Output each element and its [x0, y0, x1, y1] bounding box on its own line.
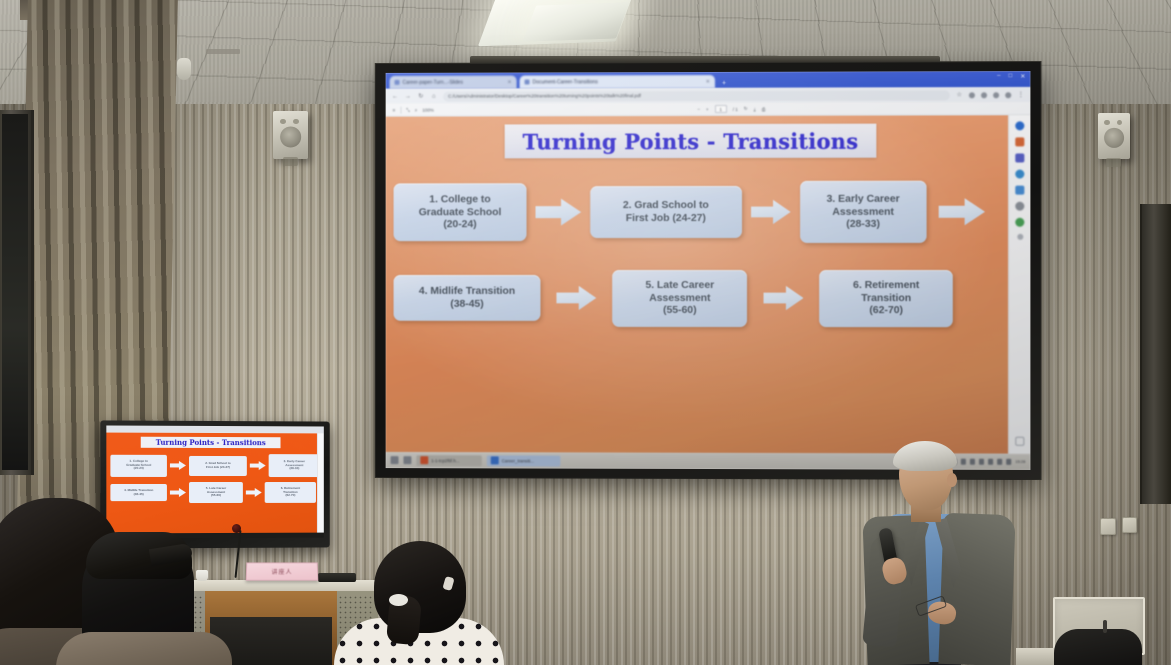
speaker-mount-left — [283, 157, 298, 166]
favicon-icon — [395, 80, 400, 85]
confidence-monitor: Turning Points - Transitions 1. College … — [100, 420, 329, 548]
confidence-monitor-screen: Turning Points - Transitions 1. College … — [106, 426, 323, 539]
window-glass-left — [2, 114, 28, 470]
new-tab-button[interactable]: + — [718, 80, 730, 88]
window-frame-right — [1140, 204, 1171, 504]
flow-node-2: 2. Grad School to First Job (24-27) — [590, 186, 741, 238]
monitor-flow-node-6: 6. Retirement Transition (62-70) — [265, 482, 316, 503]
wall-outlet-icon[interactable] — [1122, 517, 1137, 533]
wall-speaker-left-icon — [273, 111, 308, 159]
extension-icon-3[interactable] — [993, 92, 999, 98]
monitor-flow-node-3: 3. Early Career Assessment (28-33) — [269, 454, 317, 477]
browser-tab-2[interactable]: Document-Career-Transitions ✕ — [520, 75, 715, 89]
toolbar-separator — [400, 106, 401, 113]
pdf-sidebar-toggle-icon[interactable]: ≡ — [393, 107, 396, 112]
flow-node-5: 5. Late Career Assessment (55-60) — [612, 269, 747, 326]
mon-n2-l2: First Job (24-27) — [206, 464, 230, 468]
flow-arrow-4-icon — [556, 284, 596, 311]
presenter-hair — [893, 441, 957, 471]
monitor-flow-row-1: 1. College to Graduate School (20-24) 2.… — [110, 454, 317, 477]
monitor-flow-arrow-1-icon — [170, 460, 186, 470]
search-icon[interactable] — [403, 456, 411, 464]
ceiling-motion-sensor-icon — [177, 58, 191, 80]
projection-screen: Career-paper-Turn...-Slides ✕ Document-C… — [386, 71, 1031, 470]
extension-icon-1[interactable] — [969, 92, 975, 98]
flow-node-2-line2: First Job (24-27) — [626, 212, 706, 224]
address-input[interactable]: C:/Users/Administrator/Desktop/Career%20… — [443, 90, 950, 101]
laptop-on-podium — [318, 573, 356, 582]
flow-node-1-line2: Graduate School — [419, 206, 502, 218]
flow-arrow-2-icon — [751, 198, 791, 225]
maximize-icon[interactable]: □ — [1009, 73, 1014, 80]
reload-icon[interactable]: ↻ — [417, 93, 424, 100]
address-value: C:/Users/Administrator/Desktop/Career%20… — [448, 93, 641, 98]
hair-scrunchie-icon — [389, 594, 408, 606]
comment-tool-icon[interactable] — [1015, 170, 1024, 179]
taskbar-item-1-label: 1-1-tcp2f6f.h... — [431, 458, 459, 463]
paper-cup — [196, 570, 208, 581]
flow-node-4-line1: 4. Midlife Transition — [419, 285, 515, 297]
pdf-zoom-in-icon[interactable]: + — [706, 106, 709, 111]
nameplate-text: 讲座人 — [271, 567, 292, 576]
flow-node-2-line1: 2. Grad School to — [623, 199, 709, 211]
window-controls: – □ ✕ — [997, 73, 1026, 80]
favicon-icon — [525, 79, 530, 84]
monitor-flow-arrow-2-icon — [250, 461, 266, 471]
mon-n5-l3: (55-60) — [211, 493, 221, 497]
slide-title: Turning Points - Transitions — [523, 128, 859, 154]
browser-address-bar: ← → ↻ ⌂ C:/Users/Administrator/Desktop/C… — [386, 87, 1031, 104]
monitor-flow-node-2: 2. Grad School to First Job (24-27) — [189, 455, 247, 475]
export-tool-icon[interactable] — [1015, 218, 1024, 227]
settings-tool-icon[interactable] — [1017, 234, 1023, 240]
black-bag — [1054, 629, 1142, 665]
pdf-zoom-level[interactable]: 100% — [422, 107, 434, 112]
monitor-flow-arrow-4-icon — [170, 488, 186, 498]
home-icon[interactable]: ⌂ — [430, 93, 437, 100]
flow-arrow-3-icon — [939, 197, 985, 227]
pdf-page-total: / 1 — [733, 106, 738, 111]
windows-start-icon[interactable] — [391, 456, 399, 464]
projection-screen-bezel: Career-paper-Turn...-Slides ✕ Document-C… — [376, 62, 1041, 479]
flow-node-4: 4. Midlife Transition (38-45) — [394, 275, 541, 321]
flow-node-6-line1: 6. Retirement — [853, 279, 919, 291]
app-icon-2 — [491, 456, 499, 464]
speaker-cone — [1104, 128, 1124, 148]
taskbar-item-2[interactable]: Career_transiti... — [487, 455, 561, 466]
taskbar-item-2-label: Career_transiti... — [502, 458, 534, 463]
slide-title-band: Turning Points - Transitions — [505, 124, 877, 159]
pdf-rotate-icon[interactable]: ↻ — [744, 106, 748, 112]
mon-n4-l2: (38-45) — [134, 492, 144, 496]
gooseneck-microphone-icon — [232, 524, 241, 533]
speaker-cone — [280, 126, 302, 147]
pdf-print-icon[interactable]: ⎙ — [762, 106, 766, 111]
mon-n1-l3: (20-24) — [134, 466, 144, 470]
ceiling-light-inner — [523, 2, 630, 41]
flow-node-3-line3: (28-33) — [846, 218, 880, 230]
wall-speaker-right-icon — [1098, 113, 1130, 159]
slide-canvas: Turning Points - Transitions 1. College … — [386, 115, 1009, 453]
stamp-tool-icon[interactable] — [1015, 137, 1024, 146]
ceiling-vent — [206, 49, 240, 54]
monitor-flow-node-4: 4. Midlife Transition (38-45) — [110, 484, 167, 501]
browser-tab-strip: Career-paper-Turn...-Slides ✕ Document-C… — [386, 71, 1031, 89]
browser-menu-icon[interactable]: ⋮ — [1017, 91, 1024, 98]
podium-nameplate: 讲座人 — [246, 562, 319, 580]
presenter-ear — [947, 473, 957, 487]
highlight-tool-icon[interactable] — [1015, 121, 1024, 130]
flow-node-3: 3. Early Career Assessment (28-33) — [800, 181, 927, 243]
pdf-page-controls: − + 1 / 1 ↻ ⤓ ⎙ — [697, 105, 765, 113]
flow-node-6-line3: (62-70) — [869, 304, 903, 316]
monitor-title-band: Turning Points - Transitions — [141, 437, 281, 448]
flow-node-6-line2: Transition — [861, 292, 911, 304]
pdf-download-icon[interactable]: ⤓ — [754, 106, 756, 111]
back-icon[interactable]: ← — [392, 93, 399, 100]
speaker-mount-right — [1106, 158, 1121, 167]
share-tool-icon[interactable] — [1015, 186, 1024, 195]
extension-icon-2[interactable] — [981, 92, 987, 98]
bookmark-star-icon[interactable]: ☆ — [956, 91, 963, 98]
monitor-flow-arrow-5-icon — [246, 487, 262, 497]
pdf-search-icon[interactable]: ⌕ — [415, 107, 418, 112]
monitor-slide-title: Turning Points - Transitions — [156, 438, 266, 447]
speaker-tweeter — [280, 119, 286, 124]
flow-node-5-line2: Assessment — [649, 292, 710, 304]
browser-tab-1-label: Career-paper-Turn...-Slides — [402, 79, 462, 85]
close-window-icon[interactable]: ✕ — [1020, 73, 1026, 80]
flow-row-1: 1. College to Graduate School (20-24) 2.… — [394, 178, 985, 246]
monitor-flow-node-5: 5. Late Career Assessment (55-60) — [189, 482, 243, 503]
speaker-tweeter — [1104, 120, 1109, 125]
lecture-hall-scene: Career-paper-Turn...-Slides ✕ Document-C… — [0, 0, 1171, 665]
signature-tool-icon[interactable] — [1015, 153, 1024, 162]
pdf-page-input[interactable]: 1 — [715, 105, 727, 113]
pdf-left-controls: ≡ ⤡ ⌕ 100% — [393, 106, 434, 113]
extension-icon-4[interactable] — [1005, 92, 1011, 98]
presenter — [855, 440, 1030, 665]
flow-node-1: 1. College to Graduate School (20-24) — [394, 183, 527, 241]
pdf-fit-icon[interactable]: ⤡ — [406, 107, 410, 112]
bag-handle — [1103, 620, 1107, 633]
pdf-zoom-out-icon[interactable]: − — [697, 107, 700, 112]
taskbar-item-1[interactable]: 1-1-tcp2f6f.h... — [416, 455, 481, 466]
flow-node-1-line1: 1. College to — [429, 193, 490, 205]
pdf-tool-sidebar — [1008, 115, 1030, 454]
mon-n3-l3: (28-33) — [289, 467, 299, 471]
forward-icon[interactable]: → — [404, 93, 411, 100]
mon-n6-l3: (62-70) — [285, 493, 295, 497]
monitor-slide-canvas: Turning Points - Transitions 1. College … — [106, 433, 317, 534]
monitor-flow-row-2: 4. Midlife Transition (38-45) 5. Late Ca… — [110, 482, 316, 503]
speaker-tweeter-2 — [1117, 120, 1122, 125]
close-tab-icon[interactable]: ✕ — [706, 78, 710, 84]
browser-tab-1[interactable]: Career-paper-Turn...-Slides ✕ — [390, 76, 517, 89]
browser-tab-2-label: Document-Career-Transitions — [533, 79, 598, 85]
app-icon-1 — [420, 456, 428, 464]
speaker-tweeter-2 — [293, 119, 299, 124]
wall-switch-icon[interactable] — [1100, 518, 1116, 535]
flow-node-5-line1: 5. Late Career — [645, 279, 714, 291]
flow-arrow-1-icon — [535, 197, 581, 227]
close-tab-icon[interactable]: ✕ — [507, 79, 511, 85]
monitor-pdf-sidebar — [317, 433, 324, 532]
flow-node-6: 6. Retirement Transition (62-70) — [820, 269, 953, 326]
window-frame-left — [0, 110, 34, 475]
flow-row-2: 4. Midlife Transition (38-45) 5. Late Ca… — [394, 268, 953, 328]
more-tool-icon[interactable] — [1015, 202, 1024, 211]
flow-node-1-line3: (20-24) — [443, 219, 476, 231]
flow-node-3-line2: Assessment — [832, 205, 894, 217]
flow-node-5-line3: (55-60) — [663, 304, 696, 316]
flow-arrow-5-icon — [764, 285, 804, 312]
monitor-flow-node-1: 1. College to Graduate School (20-24) — [110, 454, 167, 476]
browser-extensions — [969, 92, 1011, 98]
flow-node-3-line1: 3. Early Career — [827, 193, 900, 205]
minimize-icon[interactable]: – — [997, 73, 1001, 80]
flow-node-4-line2: (38-45) — [450, 298, 483, 310]
audience-member-2-shoulders — [56, 632, 232, 665]
